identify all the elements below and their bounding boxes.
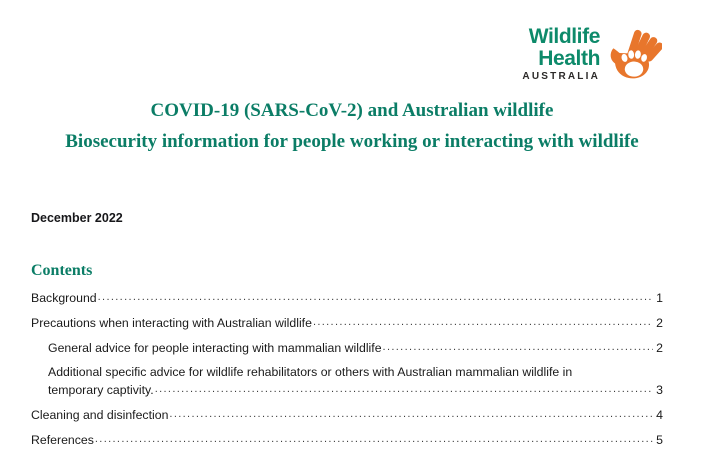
toc-entry-additional-advice[interactable]: Additional specific advice for wildlife … bbox=[31, 364, 663, 399]
toc-page-number: 5 bbox=[654, 432, 663, 449]
toc-leader-dots: ........................................… bbox=[313, 314, 653, 331]
toc-entry-label: Cleaning and disinfection bbox=[31, 407, 168, 424]
document-page: Wildlife Health AUSTRALIA bbox=[0, 0, 704, 475]
document-title: COVID-19 (SARS-CoV-2) and Australian wil… bbox=[0, 98, 704, 124]
toc-page-number: 2 bbox=[654, 340, 663, 357]
toc-entry-label: Precautions when interacting with Austra… bbox=[31, 315, 312, 332]
toc-entry-general-advice[interactable]: General advice for people interacting wi… bbox=[31, 339, 663, 357]
toc-page-number: 4 bbox=[654, 407, 663, 424]
toc-leader-dots: ........................................… bbox=[169, 406, 653, 423]
wildlife-health-australia-logo: Wildlife Health AUSTRALIA bbox=[522, 26, 662, 82]
logo-text-health: Health bbox=[522, 48, 600, 69]
toc-entry-line2-row: temporary captivity. ...................… bbox=[48, 381, 663, 399]
toc-leader-dots: ........................................… bbox=[383, 339, 653, 356]
toc-entry-label: References bbox=[31, 432, 94, 449]
toc-entry-label-line1: Additional specific advice for wildlife … bbox=[48, 364, 663, 381]
table-of-contents: Background .............................… bbox=[31, 289, 663, 456]
hand-paw-logo-icon bbox=[606, 26, 662, 82]
document-subtitle: Biosecurity information for people worki… bbox=[0, 129, 704, 154]
toc-entry-cleaning-disinfection[interactable]: Cleaning and disinfection ..............… bbox=[31, 406, 663, 424]
document-date: December 2022 bbox=[31, 211, 123, 225]
toc-page-number: 3 bbox=[654, 382, 663, 399]
logo-text-wildlife: Wildlife bbox=[522, 26, 600, 47]
toc-leader-dots: ........................................… bbox=[95, 431, 653, 448]
toc-entry-background[interactable]: Background .............................… bbox=[31, 289, 663, 307]
toc-entry-label: Background bbox=[31, 290, 97, 307]
toc-entry-references[interactable]: References .............................… bbox=[31, 431, 663, 449]
toc-leader-dots: ........................................… bbox=[98, 289, 653, 306]
toc-entry-precautions[interactable]: Precautions when interacting with Austra… bbox=[31, 314, 663, 332]
toc-page-number: 1 bbox=[654, 290, 663, 307]
toc-entry-label-line2: temporary captivity. bbox=[48, 382, 154, 399]
logo-wordmark: Wildlife Health AUSTRALIA bbox=[522, 26, 600, 82]
toc-entry-label: General advice for people interacting wi… bbox=[48, 340, 382, 357]
toc-page-number: 2 bbox=[654, 315, 663, 332]
contents-heading: Contents bbox=[31, 262, 92, 280]
toc-leader-dots: ........................................… bbox=[155, 381, 653, 398]
logo-text-australia: AUSTRALIA bbox=[522, 72, 600, 82]
